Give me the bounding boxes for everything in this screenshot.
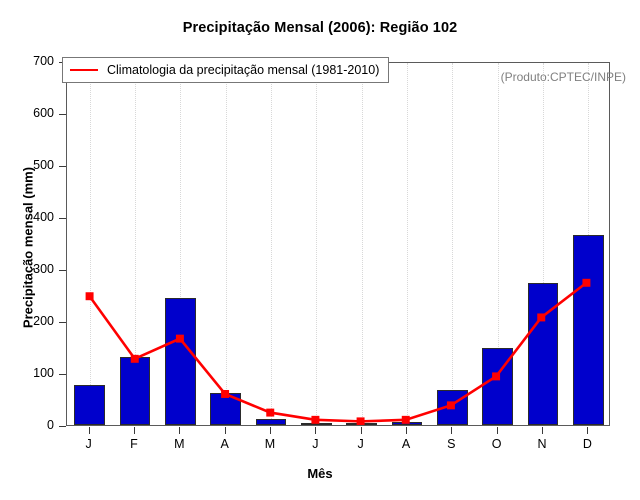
climatology-point xyxy=(402,416,410,424)
x-tick-label: O xyxy=(477,437,517,451)
x-tick-label: A xyxy=(205,437,245,451)
x-tick-label: J xyxy=(69,437,109,451)
x-tick-mark xyxy=(134,427,135,434)
x-tick-mark xyxy=(89,427,90,434)
x-tick-mark xyxy=(497,427,498,434)
y-tick-label: 300 xyxy=(6,262,54,276)
x-tick-label: N xyxy=(522,437,562,451)
x-tick-mark xyxy=(542,427,543,434)
climatology-line-series xyxy=(67,63,609,425)
climatology-point xyxy=(311,416,319,424)
x-tick-mark xyxy=(587,427,588,434)
climatology-point xyxy=(447,401,455,409)
x-tick-mark xyxy=(406,427,407,434)
climatology-point xyxy=(266,409,274,417)
x-tick-label: A xyxy=(386,437,426,451)
y-tick-label: 500 xyxy=(6,158,54,172)
x-tick-mark xyxy=(179,427,180,434)
climatology-point xyxy=(537,313,545,321)
x-tick-mark xyxy=(315,427,316,434)
y-tick-mark xyxy=(59,374,66,375)
x-tick-mark xyxy=(270,427,271,434)
y-tick-mark xyxy=(59,114,66,115)
x-tick-label: J xyxy=(341,437,381,451)
plot-area xyxy=(66,62,610,426)
y-tick-label: 600 xyxy=(6,106,54,120)
x-tick-mark xyxy=(225,427,226,434)
legend-line-swatch xyxy=(70,69,98,71)
climatology-point xyxy=(86,292,94,300)
legend: Climatologia da precipitação mensal (198… xyxy=(62,57,389,83)
y-tick-label: 0 xyxy=(6,418,54,432)
x-tick-mark xyxy=(361,427,362,434)
climatology-point xyxy=(357,417,365,425)
x-axis-title: Mês xyxy=(0,466,640,481)
y-tick-mark xyxy=(59,426,66,427)
x-tick-mark xyxy=(451,427,452,434)
precipitation-chart: Precipitação Mensal (2006): Região 102 P… xyxy=(0,0,640,500)
product-annotation: (Produto:CPTEC/INPE) xyxy=(501,70,626,84)
climatology-point xyxy=(176,335,184,343)
legend-entry-label: Climatologia da precipitação mensal (198… xyxy=(107,63,379,77)
climatology-point xyxy=(492,372,500,380)
chart-title: Precipitação Mensal (2006): Região 102 xyxy=(0,20,640,36)
x-tick-label: M xyxy=(159,437,199,451)
x-tick-label: S xyxy=(431,437,471,451)
y-tick-mark xyxy=(59,218,66,219)
y-tick-label: 700 xyxy=(6,54,54,68)
x-tick-label: F xyxy=(114,437,154,451)
climatology-point xyxy=(221,390,229,398)
y-tick-mark xyxy=(59,270,66,271)
x-tick-label: J xyxy=(295,437,335,451)
y-tick-mark xyxy=(59,166,66,167)
y-tick-label: 200 xyxy=(6,314,54,328)
x-tick-label: D xyxy=(567,437,607,451)
climatology-point xyxy=(131,355,139,363)
climatology-line xyxy=(90,283,587,422)
y-tick-label: 100 xyxy=(6,366,54,380)
x-tick-label: M xyxy=(250,437,290,451)
y-tick-label: 400 xyxy=(6,210,54,224)
y-tick-mark xyxy=(59,322,66,323)
climatology-point xyxy=(582,279,590,287)
